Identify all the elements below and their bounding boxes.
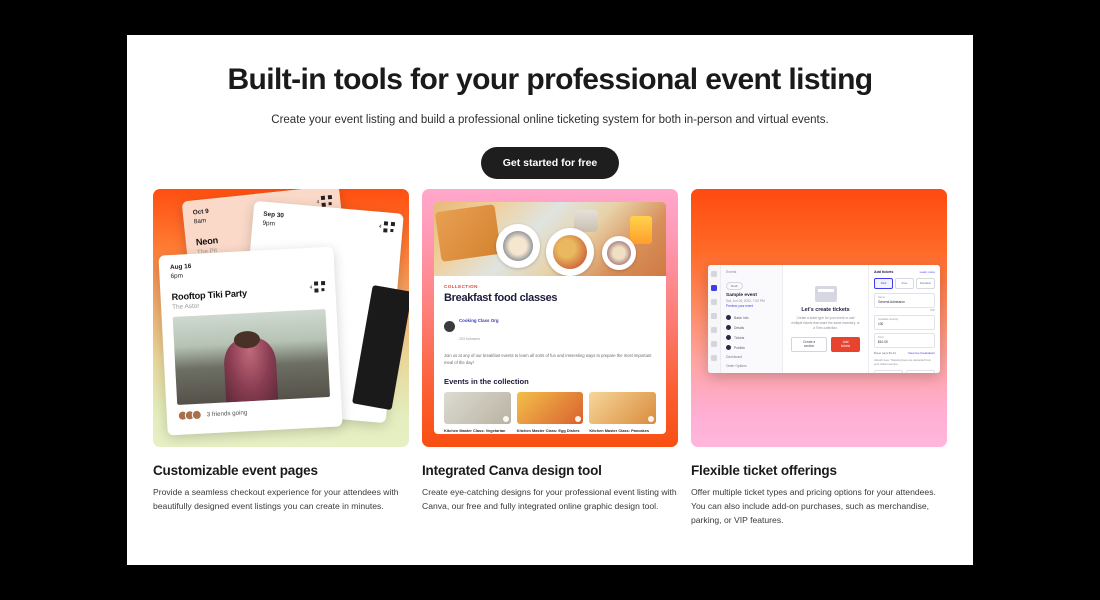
sidebar-item-details[interactable]: Details <box>726 323 777 333</box>
collection-body: Collection Breakfast food classes Cookin… <box>434 276 666 434</box>
feature-card-integrated-canva-design-tool[interactable]: Collection Breakfast food classes Cookin… <box>422 189 678 528</box>
collection-tag: Collection <box>444 284 656 289</box>
quantity-field[interactable]: Available quantity 100 <box>874 315 935 330</box>
organizer-followers: 253 followers <box>459 337 480 341</box>
quantity-value: 100 <box>878 322 931 326</box>
orders-icon[interactable] <box>711 299 717 305</box>
event-title: Kitchen Master Class: Vegetarian Breakfa… <box>444 428 511 433</box>
card-3-title: Flexible ticket offerings <box>691 463 947 478</box>
qr-code-icon-2: 4 <box>378 221 395 233</box>
card-1-artwork: Oct 9 8am Neon The Pit 4 Sep 30 9pm <box>153 189 409 447</box>
list-item[interactable]: Kitchen Master Class: Pancakes and Waffl… <box>589 392 656 433</box>
collection-event-list: Kitchen Master Class: Vegetarian Breakfa… <box>444 392 656 433</box>
event-dashboard-mock: Events Draft Sample event Sat, Jun 04, 2… <box>708 265 940 373</box>
buyer-pays-label: Buyer pays $1.24 <box>874 351 896 355</box>
quantity-label: Available quantity <box>878 318 931 321</box>
event-datetime: Sat, Jun 04, 2022, 7:00 PM <box>726 299 777 303</box>
fee-breakdown-link[interactable]: View fee breakdown <box>908 351 935 355</box>
juice-glass <box>630 216 652 244</box>
event-thumbnail <box>589 392 656 424</box>
sales-start-row: Sales start 2021-10-21 Start time 12:00 … <box>874 370 935 373</box>
step-icon <box>726 315 731 320</box>
home-icon[interactable] <box>711 271 717 277</box>
empty-state-heading: Let's create tickets <box>801 307 849 313</box>
sidebar-nav: Basic Info Details Tickets Publish Dashb… <box>726 313 777 373</box>
absorb-fees-note: Absorb fees: Ticketing fees are deducted… <box>874 358 935 367</box>
collection-hero-image <box>434 202 666 276</box>
avatar-group <box>178 410 202 421</box>
ticket-name-label: Name <box>878 296 931 299</box>
page-title: Built-in tools for your professional eve… <box>167 63 933 98</box>
event-name: Sample event <box>726 293 777 298</box>
card-2-title: Integrated Canva design tool <box>422 463 678 478</box>
empty-state-text: Create a ticket type for your event or a… <box>791 316 860 331</box>
ticket-name-field[interactable]: Name General Admission <box>874 293 935 308</box>
panel-header: Add tickets Learn more <box>874 270 935 274</box>
plate-2 <box>546 228 594 276</box>
feature-card-flexible-ticket-offerings[interactable]: Events Draft Sample event Sat, Jun 04, 2… <box>691 189 947 528</box>
collection-heading: Breakfast food classes <box>444 292 656 304</box>
learn-more-link[interactable]: Learn more <box>920 270 935 274</box>
add-tickets-panel: Add tickets Learn more Paid Free Donatio… <box>868 265 940 373</box>
marketing-icon[interactable] <box>711 313 717 319</box>
save-icon[interactable] <box>648 416 654 422</box>
feature-card-customizable-event-pages[interactable]: Oct 9 8am Neon The Pit 4 Sep 30 9pm <box>153 189 409 528</box>
dashboard-sidebar: Events Draft Sample event Sat, Jun 04, 2… <box>721 265 783 373</box>
sidebar-item-marketing[interactable]: Marketing <box>726 371 777 373</box>
create-section-button[interactable]: Create a section <box>791 337 827 352</box>
sidebar-item-tickets[interactable]: Tickets <box>726 333 777 343</box>
tab-free[interactable]: Free <box>895 278 914 289</box>
price-field[interactable]: Price $10.00 <box>874 333 935 348</box>
plate-1 <box>496 224 540 268</box>
qr-code-icon-1: 4 <box>316 195 333 208</box>
fees-row: Buyer pays $1.24 View fee breakdown <box>874 351 935 355</box>
step-icon <box>726 345 731 350</box>
plate-3 <box>602 236 636 270</box>
panel-title: Add tickets <box>874 270 893 274</box>
ticket-type-tabs: Paid Free Donation <box>874 278 935 289</box>
hero-subtitle: Create your event listing and build a pr… <box>220 112 880 129</box>
dashboard-icon-rail <box>708 265 721 373</box>
event-title: Kitchen Master Class: Egg Dishes <box>517 428 584 433</box>
settings-icon[interactable] <box>711 355 717 361</box>
card-1-description: Provide a seamless checkout experience f… <box>153 486 409 514</box>
events-icon[interactable] <box>711 285 717 291</box>
sales-start-date-field[interactable]: Sales start 2021-10-21 <box>874 370 903 373</box>
save-icon[interactable] <box>503 416 509 422</box>
preview-event-link[interactable]: Preview your event <box>726 304 777 308</box>
hero-section: Built-in tools for your professional eve… <box>127 35 973 179</box>
card-2-description: Create eye-catching designs for your pro… <box>422 486 678 514</box>
organizer-avatar <box>444 321 455 332</box>
tab-paid[interactable]: Paid <box>874 278 893 289</box>
dashboard-main-empty-state: Let's create tickets Create a ticket typ… <box>783 265 868 373</box>
step-icon <box>726 335 731 340</box>
card-1-title: Customizable event pages <box>153 463 409 478</box>
save-icon[interactable] <box>575 416 581 422</box>
ticket-name-value: General Admission <box>878 300 931 304</box>
card-3-description: Offer multiple ticket types and pricing … <box>691 486 947 528</box>
step-icon <box>726 325 731 330</box>
price-label: Price <box>878 336 931 339</box>
price-value: $10.00 <box>878 340 931 344</box>
add-tickets-button[interactable]: Add tickets <box>831 337 860 352</box>
organizer-row[interactable]: Cooking Class Org 253 followers <box>444 309 656 345</box>
organizer-name: Cooking Class Org <box>459 318 499 323</box>
list-item[interactable]: Kitchen Master Class: Vegetarian Breakfa… <box>444 392 511 433</box>
card-2-artwork: Collection Breakfast food classes Cookin… <box>422 189 678 447</box>
empty-state-actions: Create a section Add tickets <box>791 337 860 352</box>
sidebar-item-basic-info[interactable]: Basic Info <box>726 313 777 323</box>
ticket-3-footer: 3 friends going <box>178 403 331 421</box>
qr-code-icon-3: 4 <box>309 281 325 293</box>
sales-start-time-field[interactable]: Start time 12:00 AM <box>906 370 935 373</box>
list-item[interactable]: Kitchen Master Class: Egg Dishes Wed, De… <box>517 392 584 433</box>
sidebar-item-publish[interactable]: Publish <box>726 343 777 353</box>
feature-cards: Oct 9 8am Neon The Pit 4 Sep 30 9pm <box>127 179 973 528</box>
sidebar-item-order-options[interactable]: Order Options <box>726 362 777 371</box>
ticket-2-photo <box>352 285 409 410</box>
sidebar-item-dashboard[interactable]: Dashboard <box>726 353 777 362</box>
content-panel: Built-in tools for your professional eve… <box>127 35 973 565</box>
tickets-illustration-icon <box>815 286 837 302</box>
ticket-3-photo <box>173 309 330 405</box>
collection-page-mock: Collection Breakfast food classes Cookin… <box>434 202 666 434</box>
collection-section-heading: Events in the collection <box>444 377 656 386</box>
tab-donation[interactable]: Donation <box>916 278 935 289</box>
event-thumbnail <box>444 392 511 424</box>
event-thumbnail <box>517 392 584 424</box>
card-3-artwork: Events Draft Sample event Sat, Jun 04, 2… <box>691 189 947 447</box>
reports-icon[interactable] <box>711 327 717 333</box>
character-counter: 0/50 <box>874 309 935 312</box>
bread-board <box>435 204 501 262</box>
event-title: Kitchen Master Class: Pancakes and Waffl… <box>589 428 656 433</box>
collection-paragraph: Join us at any of our breakfast events t… <box>444 352 656 367</box>
back-link[interactable]: Events <box>726 270 777 274</box>
friends-going-label: 3 friends going <box>207 409 248 418</box>
apps-icon[interactable] <box>711 341 717 347</box>
status-badge: Draft <box>726 282 743 290</box>
ticket-card-front: Aug 16 6pm Rooftop Tiki Party The Astor … <box>158 246 342 435</box>
get-started-button[interactable]: Get started for free <box>481 147 620 179</box>
